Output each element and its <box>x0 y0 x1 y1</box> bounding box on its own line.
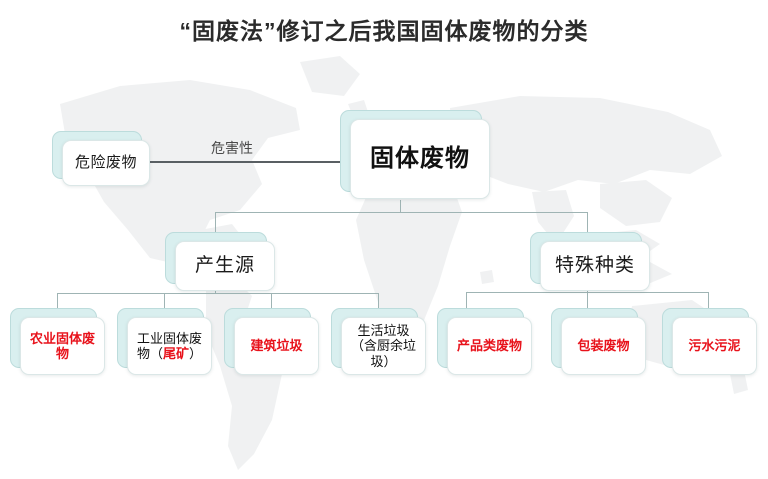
node-label: 危险废物 <box>75 154 137 172</box>
node-leaf-household-waste[interactable]: 生活垃圾（含厨余垃圾） <box>331 308 416 366</box>
node-label: 产品类废物 <box>457 338 522 353</box>
connector-branch1-bus <box>57 293 379 294</box>
node-solid-waste-root[interactable]: 固体废物 <box>340 110 480 190</box>
card-front-layer: 固体废物 <box>350 119 490 199</box>
node-leaf-industrial-solid-waste[interactable]: 工业固体废物（尾矿） <box>117 308 202 366</box>
node-branch-generation-source[interactable]: 产生源 <box>165 232 265 282</box>
connector-branch1-leaf-3 <box>271 293 272 308</box>
node-label: 包装废物 <box>577 338 629 353</box>
connector-root-stem <box>400 200 401 213</box>
node-leaf-sewage-sludge[interactable]: 污水污泥 <box>662 308 747 366</box>
slide-title: “固废法”修订之后我国固体废物的分类 <box>0 12 768 46</box>
world-map-background <box>0 34 768 479</box>
node-branch-special-categories[interactable]: 特殊种类 <box>530 232 640 282</box>
node-label-part-3: 尾 <box>163 346 176 361</box>
node-label: 固体废物 <box>370 145 470 173</box>
node-label: 建筑垃圾 <box>250 338 302 353</box>
connector-branch2-leaf-1 <box>466 292 467 308</box>
node-label: 特殊种类 <box>555 255 635 277</box>
node-hazardous-waste[interactable]: 危险废物 <box>52 131 140 177</box>
card-front-layer: 危险废物 <box>62 140 150 186</box>
connector-branch2-leaf-3 <box>708 292 709 308</box>
node-label: 产生源 <box>195 255 255 277</box>
node-leaf-agricultural-solid-waste[interactable]: 农业固体废物 <box>10 308 95 366</box>
card-front-layer: 生活垃圾（含厨余垃圾） <box>341 317 426 375</box>
card-front-layer: 特殊种类 <box>540 241 650 291</box>
node-label-part-1: 工业固体 <box>137 331 189 346</box>
card-front-layer: 产生源 <box>175 241 275 291</box>
connector-branch1-leaf-2 <box>164 293 165 308</box>
node-leaf-packaging-waste[interactable]: 包装废物 <box>551 308 636 366</box>
node-label: 工业固体废物（尾矿） <box>132 331 207 362</box>
connector-drop-branch-2 <box>587 212 588 232</box>
card-front-layer: 产品类废物 <box>447 317 532 375</box>
connector-drop-branch-1 <box>215 212 216 232</box>
card-front-layer: 建筑垃圾 <box>234 317 319 375</box>
node-label-part-4: 矿 <box>176 346 189 361</box>
node-label: 污水污泥 <box>688 338 740 353</box>
connector-hazard-line <box>150 161 342 163</box>
node-label: 农业固体废物 <box>25 331 100 362</box>
slide-canvas: “固废法”修订之后我国固体废物的分类 危害性 危险废物 固体废物 产生源 <box>0 0 768 479</box>
connector-branch2-bus <box>466 292 708 293</box>
node-label-part-5: ） <box>189 346 202 361</box>
hazard-relation-label: 危害性 <box>211 138 253 158</box>
connector-branch1-leaf-4 <box>378 293 379 308</box>
connector-branch1-leaf-1 <box>57 293 58 308</box>
connector-branch2-leaf-2 <box>587 292 588 308</box>
node-leaf-product-waste[interactable]: 产品类废物 <box>437 308 522 366</box>
node-label: 生活垃圾（含厨余垃圾） <box>346 323 421 369</box>
connector-level2-bus <box>215 212 588 213</box>
card-front-layer: 污水污泥 <box>672 317 757 375</box>
card-front-layer: 包装废物 <box>561 317 646 375</box>
node-leaf-construction-waste[interactable]: 建筑垃圾 <box>224 308 309 366</box>
card-front-layer: 农业固体废物 <box>20 317 105 375</box>
card-front-layer: 工业固体废物（尾矿） <box>127 317 212 375</box>
